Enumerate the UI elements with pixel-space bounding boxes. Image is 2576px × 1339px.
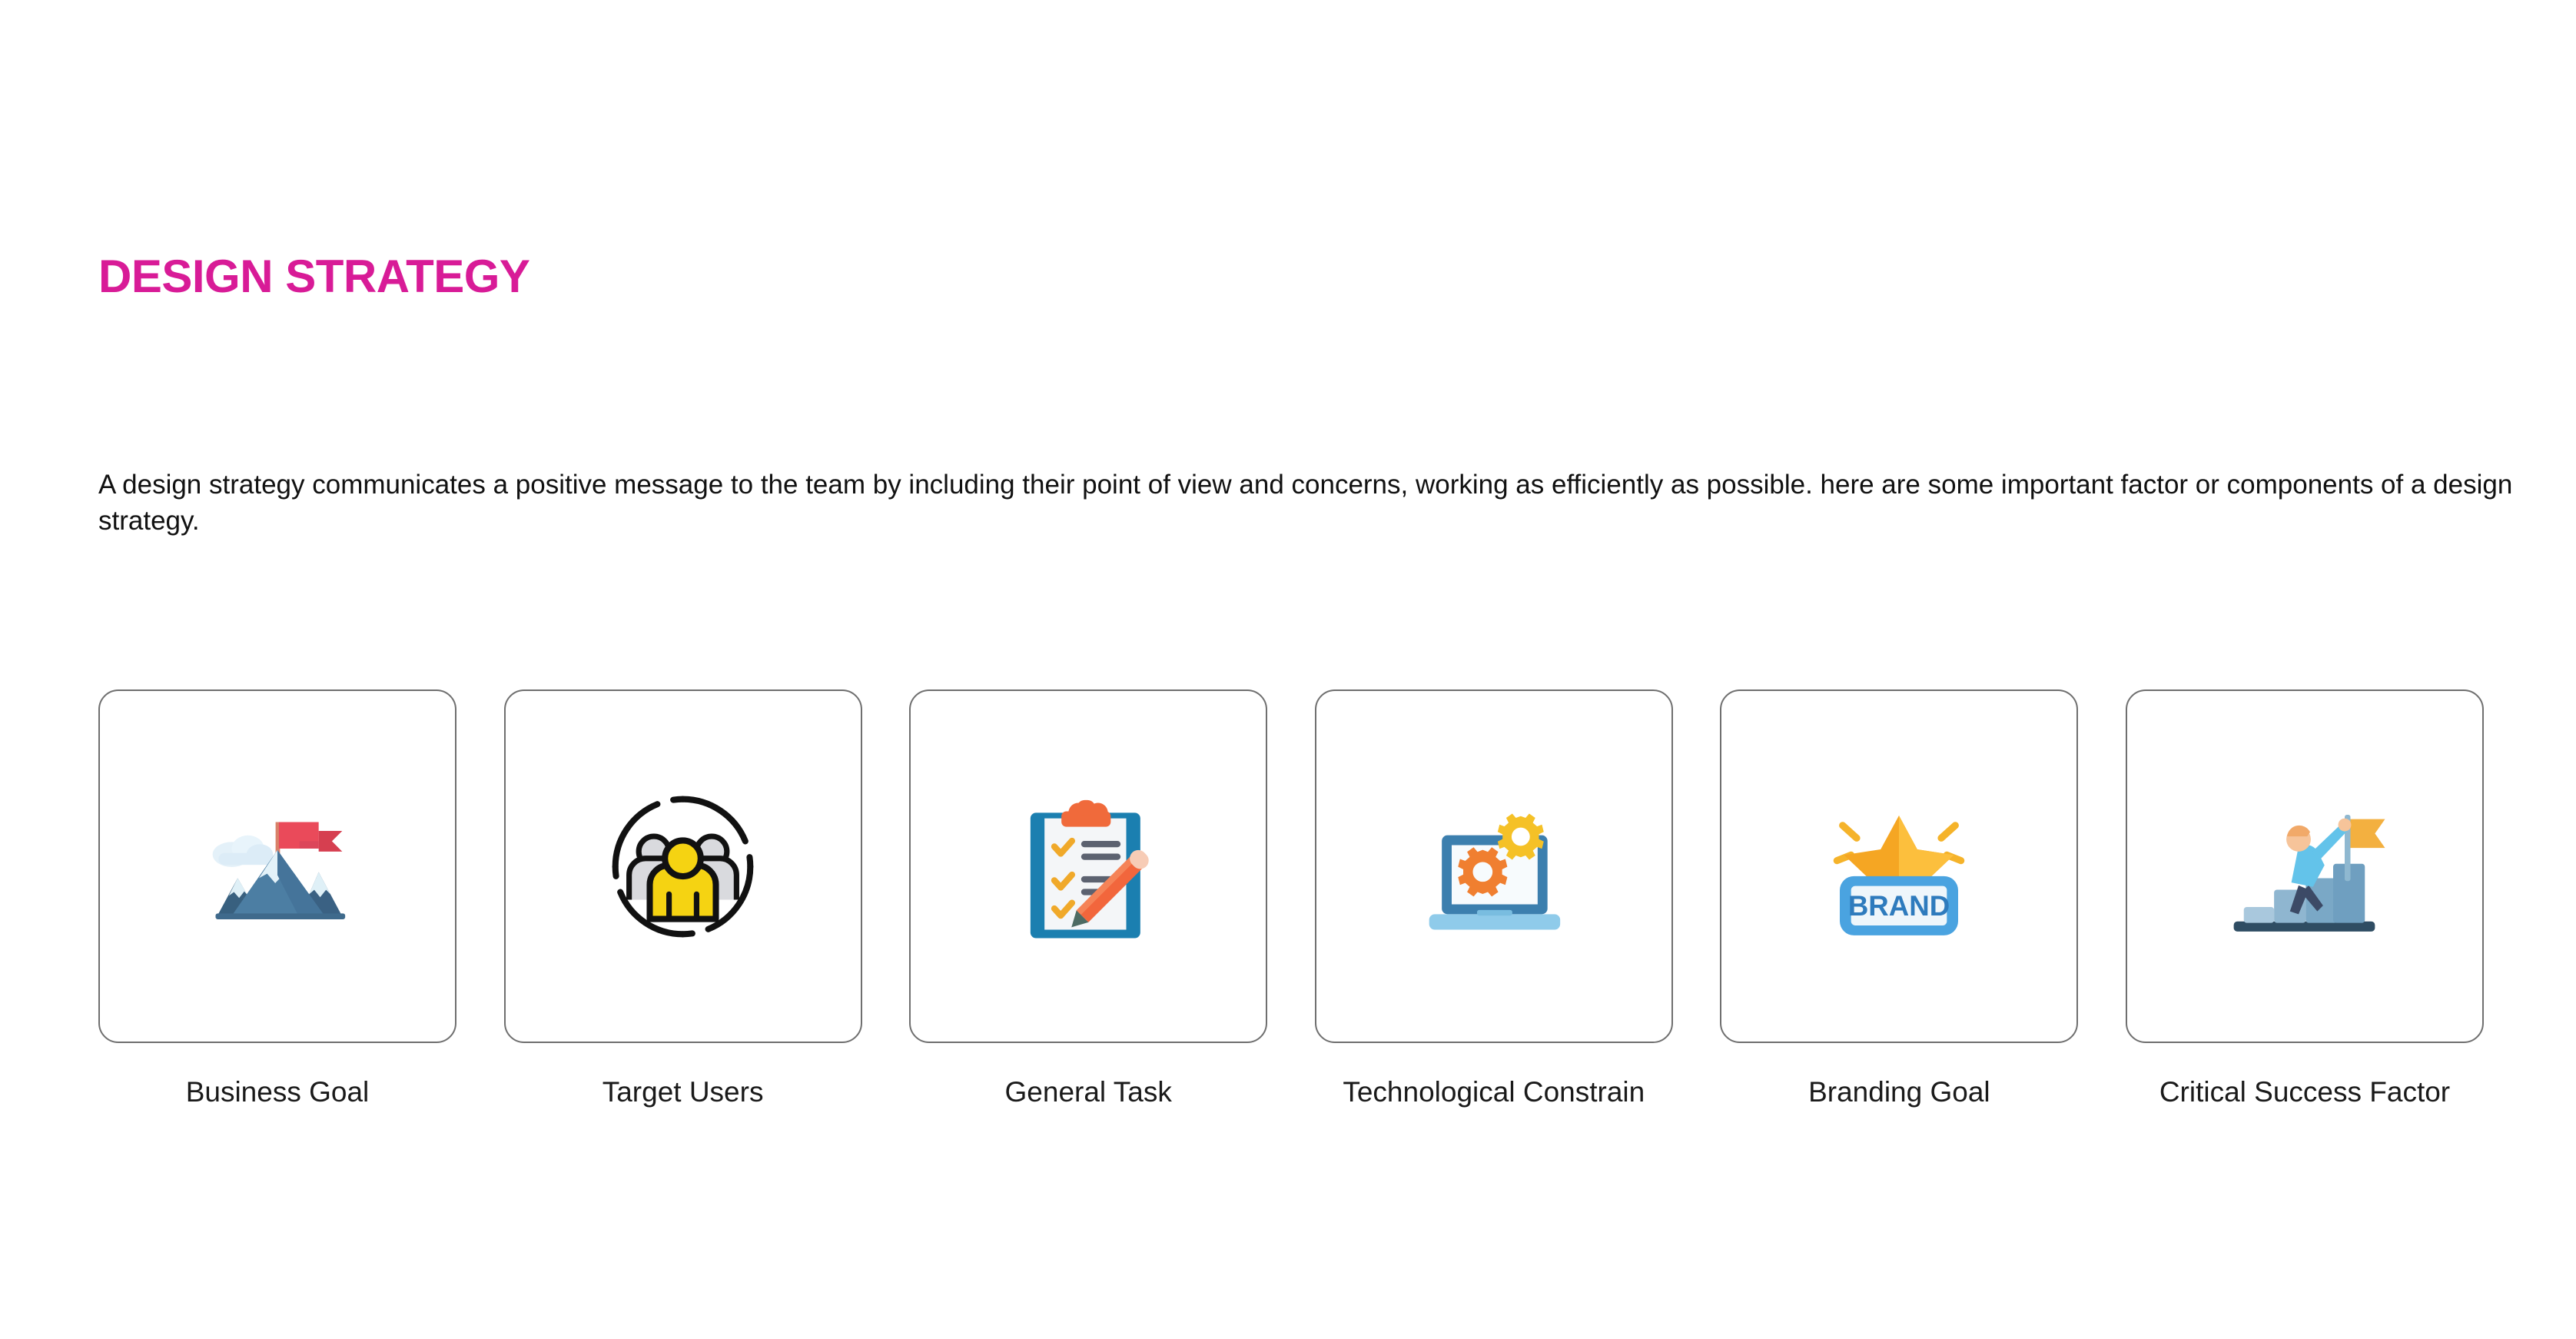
page-title: DESIGN STRATEGY [98, 254, 529, 300]
card-label: Branding Goal [1808, 1077, 1990, 1108]
strategy-card-general-task[interactable]: General Task [909, 689, 1267, 1108]
strategy-card-row: Business Goal [98, 689, 2484, 1108]
card-label: General Task [1005, 1077, 1172, 1108]
strategy-card-critical-success-factor[interactable]: Critical Success Factor [2126, 689, 2484, 1108]
card-frame[interactable]: BRAND [1720, 689, 2078, 1043]
card-frame[interactable] [98, 689, 456, 1043]
brand-star-badge-icon: BRAND [1807, 774, 1991, 959]
slide-canvas: DESIGN STRATEGY A design strategy commun… [0, 0, 2576, 1339]
clipboard-checklist-pencil-icon [996, 774, 1180, 959]
strategy-card-business-goal[interactable]: Business Goal [98, 689, 456, 1108]
intro-paragraph: A design strategy communicates a positiv… [98, 467, 2550, 539]
person-climbing-stairs-flag-icon [2213, 774, 2397, 959]
card-label: Business Goal [186, 1077, 370, 1108]
strategy-card-branding-goal[interactable]: BRAND Branding Goal [1720, 689, 2078, 1108]
card-label: Target Users [603, 1077, 764, 1108]
card-frame[interactable] [504, 689, 862, 1043]
card-label: Technological Constrain [1343, 1077, 1645, 1108]
card-frame[interactable] [1315, 689, 1673, 1043]
strategy-card-technological-constrain[interactable]: Technological Constrain [1315, 689, 1673, 1108]
card-frame[interactable] [2126, 689, 2484, 1043]
target-users-icon [591, 774, 775, 959]
mountain-flag-icon [185, 774, 370, 959]
strategy-card-target-users[interactable]: Target Users [504, 689, 862, 1108]
laptop-gears-icon [1402, 774, 1586, 959]
brand-badge-text: BRAND [1848, 890, 1950, 922]
card-frame[interactable] [909, 689, 1267, 1043]
card-label: Critical Success Factor [2159, 1077, 2450, 1108]
